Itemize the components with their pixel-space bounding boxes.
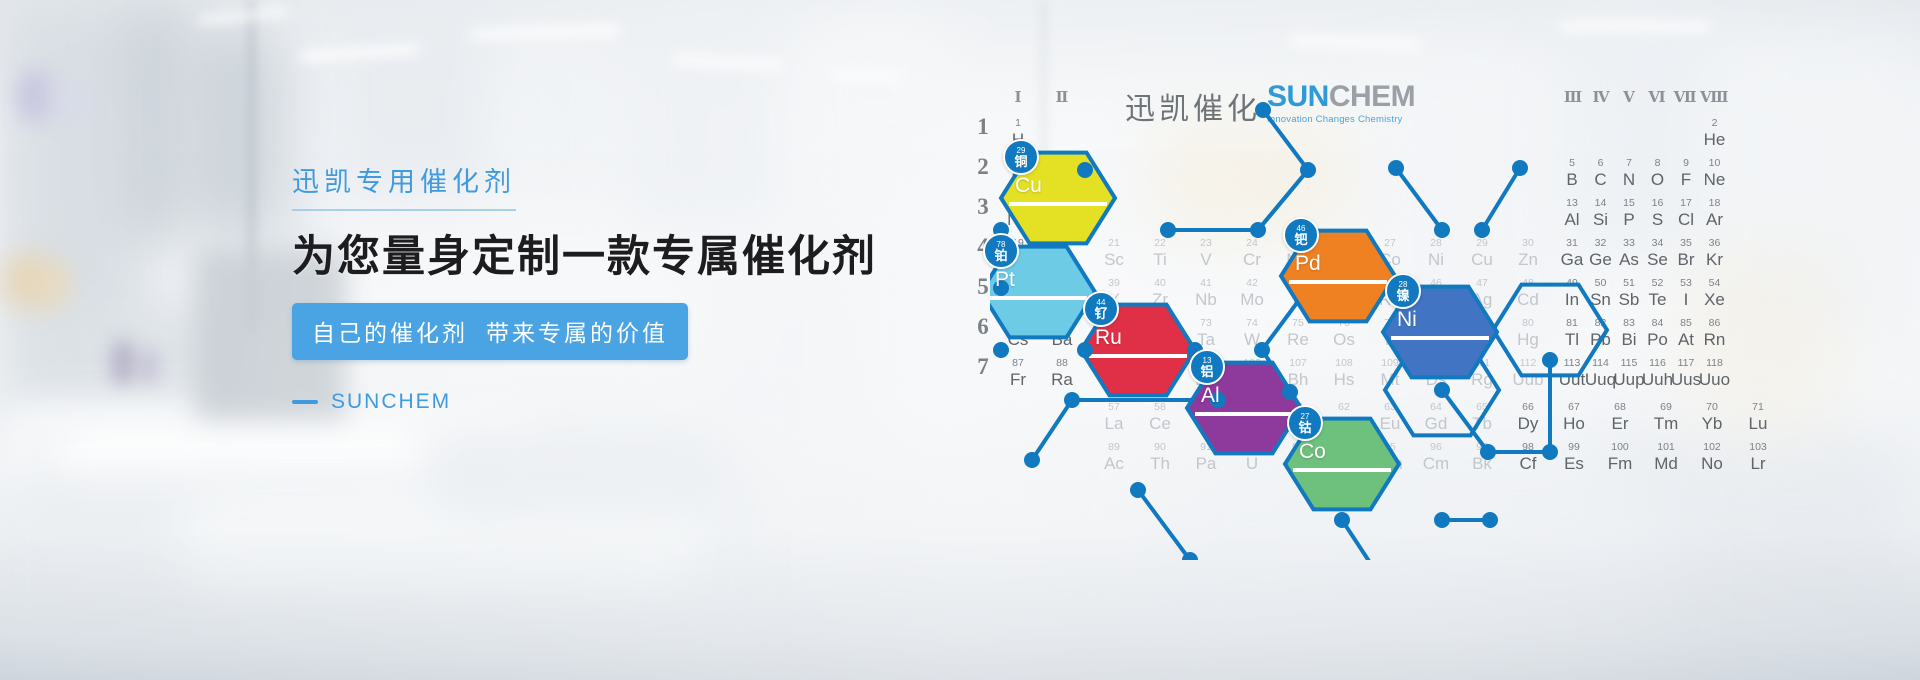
hero-signature: SUNCHEM — [292, 390, 852, 414]
element-badge[interactable]: 78铂 — [983, 233, 1019, 269]
bond-node — [1434, 512, 1450, 528]
bond-node — [1210, 392, 1226, 408]
element-badge[interactable]: 27钴 — [1287, 405, 1323, 441]
bond-node — [1255, 102, 1271, 118]
bond-node — [1282, 384, 1298, 400]
bond-node — [1434, 382, 1450, 398]
hero-headline: 为您量身定制一款专属催化剂 — [292, 233, 852, 282]
bond-node — [993, 342, 1009, 358]
bond-node — [1434, 222, 1450, 238]
bond-node — [1077, 162, 1093, 178]
bond-node — [1300, 162, 1316, 178]
bond-node — [1334, 512, 1350, 528]
hero-kicker: 迅凯专用催化剂 — [292, 166, 516, 211]
bond-node — [1480, 444, 1496, 460]
element-badge[interactable]: 44钌 — [1083, 291, 1119, 327]
bond-node — [1482, 512, 1498, 528]
bond-node — [1160, 222, 1176, 238]
element-badge[interactable]: 28镍 — [1385, 273, 1421, 309]
bond-line — [1396, 168, 1442, 230]
bond-node — [1024, 452, 1040, 468]
bond-node — [1542, 444, 1558, 460]
element-badge[interactable]: 29铜 — [1003, 139, 1039, 175]
bond-node — [1064, 392, 1080, 408]
signature-text: SUNCHEM — [331, 390, 451, 414]
bond-node — [1250, 222, 1266, 238]
badge-chinese: 钴 — [1298, 421, 1311, 434]
periodic-graphic: 迅凯催化 SUNCHEM Innovation Changes Chemistr… — [990, 60, 1770, 560]
bond-line — [1138, 490, 1190, 560]
bond-node — [1130, 482, 1146, 498]
slogan-part-1: 自己的催化剂 — [312, 320, 468, 346]
hero-banner: 迅凯专用催化剂 为您量身定制一款专属催化剂 自己的催化剂带来专属的价值 SUNC… — [0, 0, 1920, 680]
badge-chinese: 镍 — [1396, 289, 1409, 302]
element-badge[interactable]: 46钯 — [1283, 217, 1319, 253]
badge-chinese: 钯 — [1294, 233, 1307, 246]
bond-node — [1254, 342, 1270, 358]
bond-node — [1077, 342, 1093, 358]
bond-node — [1512, 160, 1528, 176]
bond-line — [1032, 400, 1072, 460]
hero-slogan-pill: 自己的催化剂带来专属的价值 — [292, 303, 688, 360]
badge-chinese: 铝 — [1200, 365, 1213, 378]
badge-chinese: 钌 — [1094, 307, 1107, 320]
badge-chinese: 铜 — [1014, 155, 1027, 168]
dash-icon — [292, 400, 318, 404]
hero-copy: 迅凯专用催化剂 为您量身定制一款专属催化剂 自己的催化剂带来专属的价值 SUNC… — [292, 166, 852, 414]
bond-node — [1388, 160, 1404, 176]
slogan-part-2: 带来专属的价值 — [486, 320, 668, 346]
bond-line — [1342, 520, 1388, 560]
bond-node — [993, 280, 1009, 296]
bond-node — [1542, 352, 1558, 368]
bond-line — [1263, 110, 1308, 170]
bond-line — [1482, 168, 1520, 230]
badge-chinese: 铂 — [994, 249, 1007, 262]
bond-node — [1474, 222, 1490, 238]
element-badge[interactable]: 13铝 — [1189, 349, 1225, 385]
